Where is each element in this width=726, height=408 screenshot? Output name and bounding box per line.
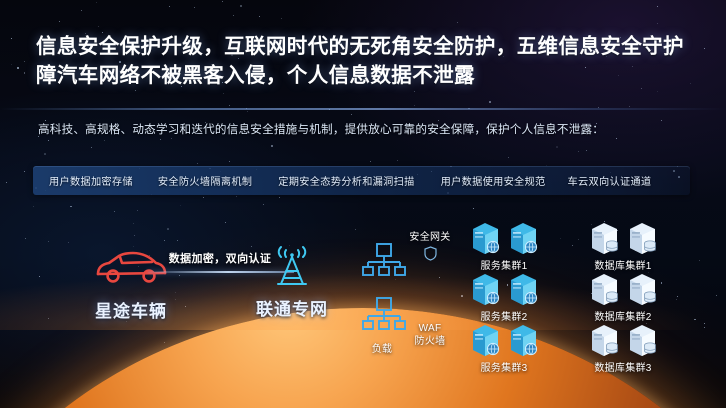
star: [508, 157, 509, 158]
star: [489, 101, 491, 103]
subtitle-text: 高科技、高规格、动态学习和迭代的信息安全措施与机制，提供放心可靠的安全保障，保护…: [38, 120, 678, 139]
star: [229, 105, 230, 106]
star: [169, 6, 170, 7]
star: [24, 61, 25, 62]
page-title: 信息安全保护升级，互联网时代的无死角安全防护，五维信息安全守护障汽车网络不被黑客…: [36, 32, 700, 90]
feature-item-usage-policy: 用户数据使用安全规范: [441, 173, 546, 188]
database-server-pair: [568, 273, 678, 307]
node-service-cluster-3: 服务集群3: [452, 324, 556, 374]
service-cluster-label: 服务集群2: [452, 308, 556, 323]
star: [397, 160, 398, 161]
star: [229, 161, 230, 162]
database-cluster-label: 数据库集群1: [568, 257, 678, 272]
database-icon: [590, 222, 619, 256]
star: [24, 72, 26, 74]
star: [457, 22, 459, 24]
star: [48, 140, 49, 141]
star: [160, 139, 161, 140]
database-icon: [628, 273, 657, 307]
star: [44, 153, 46, 155]
star: [247, 111, 248, 112]
architecture-diagram: 星途车辆 数据加密，双向认证 联通专网: [0, 200, 726, 380]
star: [271, 145, 273, 147]
star: [236, 196, 237, 197]
star: [259, 16, 260, 17]
star: [222, 1, 223, 2]
cluster-row-1: 服务集群1: [452, 222, 692, 273]
star: [11, 64, 12, 65]
star: [704, 48, 705, 49]
node-waf-firewall: WAF 防火墙: [400, 322, 460, 348]
server-icon: [471, 324, 500, 358]
node-waf-label-line1: WAF: [400, 322, 460, 335]
cluster-row-2: 服务集群2: [452, 273, 692, 324]
star: [414, 105, 415, 106]
server-icon: [471, 222, 500, 256]
feature-item-vuln-scan: 定期安全态势分析和漏洞扫描: [278, 173, 414, 188]
star: [17, 67, 19, 69]
header-divider: [0, 108, 726, 110]
feature-item-mutual-auth: 车云双向认证通道: [568, 173, 652, 188]
star: [223, 93, 224, 94]
star: [81, 10, 82, 11]
database-icon: [590, 324, 619, 358]
star: [194, 7, 195, 8]
star: [240, 5, 242, 7]
database-server-pair: [568, 324, 678, 358]
star: [578, 151, 579, 152]
node-waf-label-line2: 防火墙: [400, 335, 460, 348]
database-cluster-label: 数据库集群2: [568, 308, 678, 323]
service-server-pair: [452, 324, 556, 358]
server-icon: [471, 273, 500, 307]
star: [556, 146, 558, 148]
star: [96, 2, 97, 3]
star: [657, 91, 658, 92]
service-cluster-label: 服务集群1: [452, 257, 556, 272]
cluster-row-3: 服务集群3: [452, 324, 692, 375]
service-cluster-label: 服务集群3: [452, 359, 556, 374]
feature-item-encrypted-storage: 用户数据加密存储: [49, 173, 133, 188]
star: [414, 91, 415, 92]
service-server-pair: [452, 273, 556, 307]
star: [351, 114, 352, 115]
node-service-cluster-1: 服务集群1: [452, 222, 556, 272]
star: [135, 90, 136, 91]
slide-canvas: 信息安全保护升级，互联网时代的无死角安全防护，五维信息安全守护障汽车网络不被黑客…: [0, 0, 726, 408]
server-icon: [509, 324, 538, 358]
node-vehicle-label: 星途车辆: [76, 297, 186, 322]
star: [203, 197, 204, 198]
feature-bar: 用户数据加密存储 安全防火墙隔离机制 定期安全态势分析和漏洞扫描 用户数据使用安…: [33, 166, 690, 195]
radio-tower-icon: [265, 244, 319, 288]
star: [281, 18, 282, 19]
node-database-cluster-1: 数据库集群1: [568, 222, 678, 272]
node-service-cluster-2: 服务集群2: [452, 273, 556, 323]
star: [233, 15, 234, 16]
server-icon: [509, 273, 538, 307]
database-icon: [590, 273, 619, 307]
database-icon: [628, 324, 657, 358]
star: [6, 182, 7, 183]
star: [370, 161, 371, 162]
star: [657, 23, 658, 24]
star: [197, 163, 198, 164]
star: [24, 171, 25, 172]
shield-icon: [424, 246, 437, 261]
star: [91, 147, 92, 148]
service-server-pair: [452, 222, 556, 256]
cluster-grid: 服务集群1: [452, 222, 692, 375]
feature-item-firewall-isolation: 安全防火墙隔离机制: [158, 173, 252, 188]
node-database-cluster-2: 数据库集群2: [568, 273, 678, 323]
database-icon: [628, 222, 657, 256]
star: [657, 6, 658, 7]
database-cluster-label: 数据库集群3: [568, 359, 678, 374]
star: [104, 140, 105, 141]
star: [98, 26, 99, 27]
node-database-cluster-3: 数据库集群3: [568, 324, 678, 374]
node-private-network: 联通专网: [232, 244, 352, 320]
star: [11, 38, 12, 39]
star: [279, 197, 280, 198]
star: [59, 21, 60, 22]
server-icon: [509, 222, 538, 256]
node-private-network-label: 联通专网: [232, 295, 352, 320]
database-server-pair: [568, 222, 678, 256]
star: [586, 150, 587, 151]
